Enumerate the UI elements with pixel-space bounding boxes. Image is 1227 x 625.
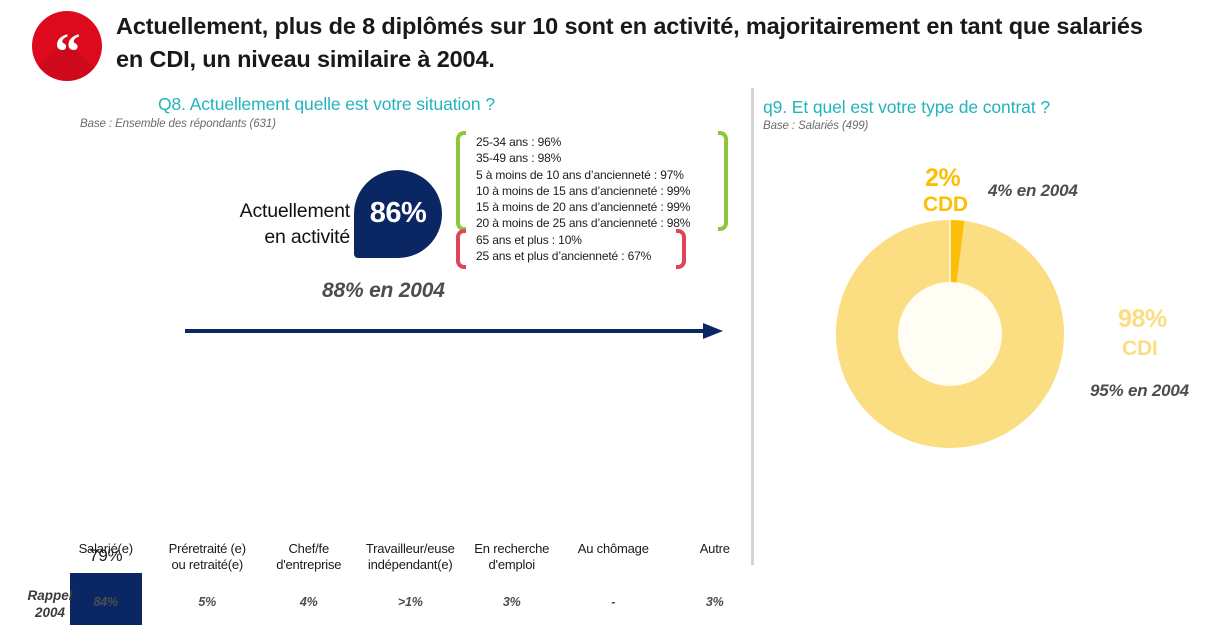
x-axis-category-label: Autre [658, 541, 771, 557]
recall-2004-cell: 84% [49, 595, 162, 609]
callout-low-performers: 65 ans et plus : 10% 25 ans et plus d’an… [456, 229, 686, 269]
x-axis-category-label: Salarié(e) [49, 541, 162, 557]
category-label-line: En recherche [455, 541, 568, 557]
list-item: 10 à moins de 15 ans d’ancienneté : 99% [476, 183, 690, 199]
x-axis-category-label: Travailleur/euseindépendant(e) [354, 541, 467, 573]
category-label-line: Préretraité (e) [151, 541, 264, 557]
list-item: 25-34 ans : 96% [476, 134, 690, 150]
donut-label-cdi-name: CDI [1122, 337, 1158, 361]
headline-line-1: Actuellement, plus de 8 diplômés sur 10 … [116, 10, 1186, 43]
page-title: Actuellement, plus de 8 diplômés sur 10 … [116, 10, 1186, 75]
donut-recall-cdd: 4% en 2004 [988, 181, 1078, 201]
category-label-line: Travailleur/euse [354, 541, 467, 557]
category-label-line: Salarié(e) [49, 541, 162, 557]
highlight-label-line-2: en activité [210, 225, 350, 251]
donut-chart-q9 [836, 220, 1064, 448]
slide-canvas: “ Actuellement, plus de 8 diplômés sur 1… [0, 0, 1227, 625]
bracket-right-icon [676, 229, 686, 269]
donut-label-cdd-value: 2% [925, 164, 960, 193]
recall-2004-cell: 4% [252, 595, 365, 609]
list-item: 65 ans et plus : 10% [476, 232, 651, 248]
category-label-line: indépendant(e) [354, 557, 467, 573]
question-title-q8: Q8. Actuellement quelle est votre situat… [158, 94, 495, 115]
recall-2004-cell: 5% [151, 595, 264, 609]
recall-2004-cell: - [557, 595, 670, 609]
bracket-left-icon [456, 131, 466, 231]
bracket-left-icon [456, 229, 466, 269]
quote-mark-icon: “ [32, 11, 102, 81]
bar-chart-q8: 79%9%5%2%2%1%2% [55, 270, 775, 540]
callout-low-list: 65 ans et plus : 10% 25 ans et plus d’an… [476, 232, 651, 265]
x-axis-category-label: Préretraité (e)ou retraité(e) [151, 541, 264, 573]
category-label-line: ou retraité(e) [151, 557, 264, 573]
recall-2004-cell: 3% [455, 595, 568, 609]
category-label-line: d'entreprise [252, 557, 365, 573]
recall-2004-cell: >1% [354, 595, 467, 609]
category-label-line: d'emploi [455, 557, 568, 573]
recall-2004-cell: 3% [658, 595, 771, 609]
question-title-q9: q9. Et quel est votre type de contrat ? [763, 97, 1050, 118]
question-base-q9: Base : Salariés (499) [763, 120, 868, 132]
list-item: 25 ans et plus d’ancienneté : 67% [476, 248, 651, 264]
callout-high-performers: 25-34 ans : 96% 35-49 ans : 98% 5 à moin… [456, 131, 728, 231]
donut-label-cdi-value: 98% [1118, 305, 1167, 334]
highlight-bubble: 86% [354, 170, 442, 258]
category-label-line: Au chômage [557, 541, 670, 557]
highlight-label: Actuellement en activité [210, 199, 350, 250]
donut-hole [898, 282, 1002, 386]
headline-line-2: en CDI, un niveau similaire à 2004. [116, 43, 1186, 76]
bracket-right-icon [718, 131, 728, 231]
callout-high-list: 25-34 ans : 96% 35-49 ans : 98% 5 à moin… [476, 134, 690, 232]
x-axis-category-label: En recherched'emploi [455, 541, 568, 573]
list-item: 15 à moins de 20 ans d’ancienneté : 99% [476, 199, 690, 215]
list-item: 35-49 ans : 98% [476, 150, 690, 166]
x-axis-category-label: Chef/fed'entreprise [252, 541, 365, 573]
donut-label-cdd-name: CDD [923, 193, 968, 217]
category-label-line: Chef/fe [252, 541, 365, 557]
x-axis-category-label: Au chômage [557, 541, 670, 557]
list-item: 5 à moins de 10 ans d’ancienneté : 97% [476, 167, 690, 183]
highlight-label-line-1: Actuellement [210, 199, 350, 225]
question-base-q8: Base : Ensemble des répondants (631) [80, 118, 276, 130]
highlight-value: 86% [370, 197, 427, 230]
donut-recall-cdi: 95% en 2004 [1090, 381, 1189, 401]
category-label-line: Autre [658, 541, 771, 557]
quote-glyph: “ [32, 11, 102, 81]
